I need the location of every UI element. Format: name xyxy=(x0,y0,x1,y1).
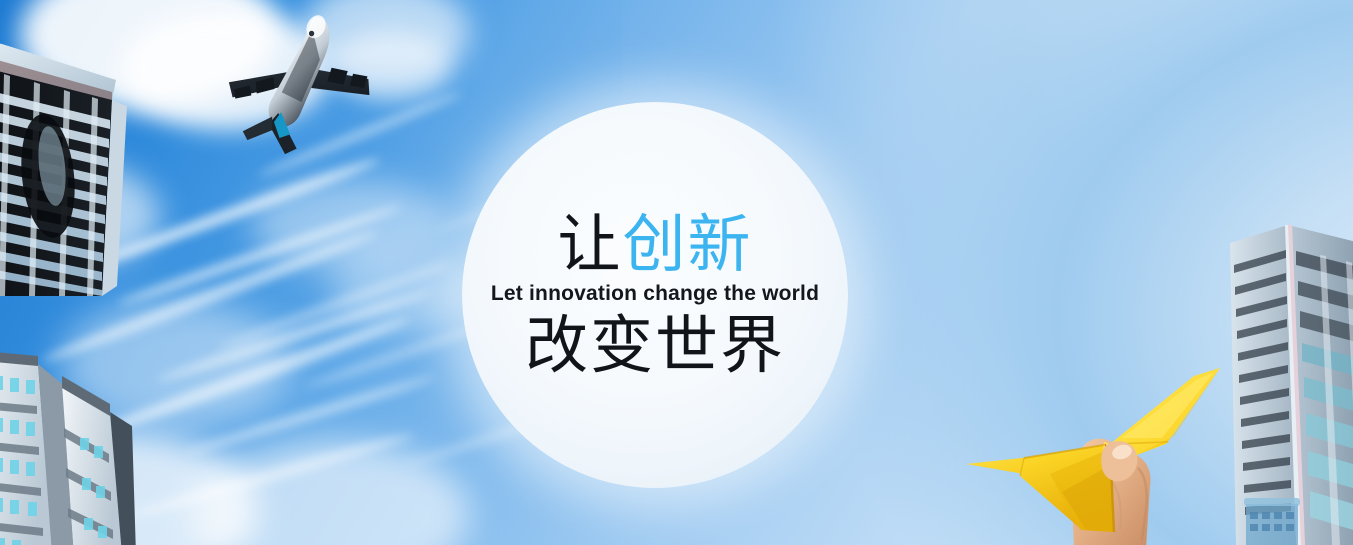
headline-line-1-accent: 创新 xyxy=(623,208,753,281)
paper-plane-icon xyxy=(962,352,1232,545)
headline-line-1: 让创新 xyxy=(558,213,753,276)
banner-subtitle: Let innovation change the world xyxy=(491,282,819,306)
skyscraper-icon xyxy=(0,0,164,296)
headline-line-2: 改变世界 xyxy=(525,314,785,377)
hero-banner: 让创新 Let innovation change the world 改变世界 xyxy=(0,0,1353,545)
distant-building-icon xyxy=(1236,490,1326,545)
airliner-icon xyxy=(216,6,376,166)
apartment-tower-icon xyxy=(0,340,167,545)
banner-copy: 让创新 Let innovation change the world 改变世界 xyxy=(462,102,848,488)
headline-line-1-black: 让 xyxy=(558,208,623,281)
